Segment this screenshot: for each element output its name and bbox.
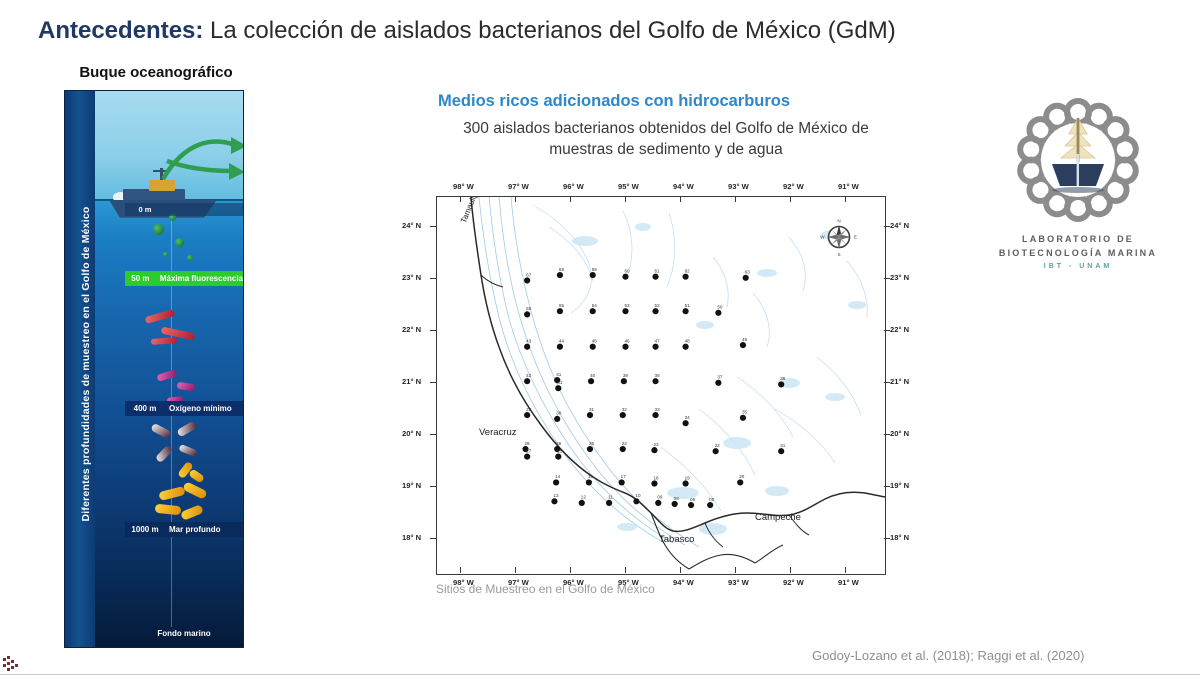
sampling-site-dot bbox=[555, 385, 561, 391]
axis-tick bbox=[680, 196, 681, 202]
sampling-site-label: 38 bbox=[655, 373, 661, 378]
sampling-site-dot bbox=[651, 480, 657, 486]
axis-tick bbox=[430, 434, 436, 435]
bacteria-rod bbox=[155, 504, 182, 516]
sampling-site-label: 30 bbox=[556, 411, 562, 416]
lat-tick-label-left: 24° N bbox=[402, 221, 421, 230]
lon-tick-label-top: 97° W bbox=[508, 182, 529, 191]
lat-tick-label-right: 24° N bbox=[890, 221, 909, 230]
sampling-site-label: 25 bbox=[589, 441, 595, 446]
sampling-site-label: 22 bbox=[715, 443, 721, 448]
depth-band-value: 400 m bbox=[125, 404, 165, 413]
sampling-site-dot bbox=[555, 453, 561, 459]
citation-text: Godoy-Lozano et al. (2018); Raggi et al.… bbox=[812, 648, 1172, 663]
sampling-site-label: 28 bbox=[525, 441, 531, 446]
sampling-site-dot bbox=[655, 500, 661, 506]
svg-text:S: S bbox=[837, 252, 840, 257]
sampling-site-dot bbox=[652, 344, 658, 350]
sampling-site-dot bbox=[586, 479, 592, 485]
lon-tick-label-top: 92° W bbox=[783, 182, 804, 191]
axis-tick bbox=[430, 278, 436, 279]
sampling-site-label: 54 bbox=[592, 303, 598, 308]
sampling-site-label: 14 bbox=[555, 474, 561, 479]
sampling-site-dot bbox=[651, 447, 657, 453]
sampling-site-label: 34 bbox=[685, 415, 691, 420]
seafloor-label: Fondo marino bbox=[125, 627, 243, 641]
page-title: Antecedentes: La colección de aislados b… bbox=[38, 14, 1158, 48]
sampling-site-dot bbox=[620, 412, 626, 418]
sampling-site-label: 13 bbox=[553, 493, 559, 498]
sampling-site-dot bbox=[672, 501, 678, 507]
depth-band-label: Oxígeno mínimo bbox=[165, 404, 232, 413]
sampling-site-label: 41 bbox=[556, 372, 562, 377]
svg-text:E: E bbox=[854, 235, 857, 240]
algae-cell bbox=[187, 255, 193, 261]
depth-band-surface: 0 m bbox=[125, 203, 243, 216]
sampling-site-label: 32 bbox=[622, 407, 628, 412]
sampling-site-dot bbox=[606, 500, 612, 506]
lat-tick-label-right: 21° N bbox=[890, 377, 909, 386]
axis-tick bbox=[884, 226, 890, 227]
sampling-site-dot bbox=[715, 380, 721, 386]
sampling-site-dot bbox=[524, 412, 530, 418]
page-title-rest: La colección de aislados bacterianos del… bbox=[203, 17, 895, 44]
sampling-site-dot bbox=[590, 344, 596, 350]
depth-band-oxygen-minimum: 400 m Oxígeno mínimo bbox=[125, 401, 243, 416]
sampling-site-label: 27 bbox=[526, 448, 532, 453]
sampling-site-label: 10 bbox=[635, 493, 641, 498]
sampling-site-dot bbox=[688, 502, 694, 508]
sampling-site-label: 37 bbox=[717, 375, 723, 380]
axis-tick bbox=[680, 567, 681, 573]
bottom-bar bbox=[0, 675, 1200, 683]
water-column-sidebar: Diferentes profundidades de muestreo en … bbox=[65, 91, 95, 647]
depth-band-deep-sea: 1000 m Mar profundo bbox=[125, 522, 243, 537]
axis-tick bbox=[460, 567, 461, 573]
sampling-site-label: 23 bbox=[653, 442, 659, 447]
sampling-site-label: 39 bbox=[623, 373, 629, 378]
bacteria-rod bbox=[150, 423, 171, 439]
axis-tick bbox=[884, 434, 890, 435]
sampling-site-label: 47 bbox=[655, 339, 661, 344]
bacteria-rod bbox=[158, 486, 185, 501]
sampling-site-dot bbox=[590, 272, 596, 278]
sampling-site-label: 24 bbox=[622, 441, 628, 446]
logo-line-2: BIOTECNOLOGÍA MARINA bbox=[988, 248, 1168, 258]
sampling-site-dot bbox=[620, 446, 626, 452]
sampling-site-label: 48 bbox=[685, 339, 691, 344]
bacteria-rod bbox=[182, 481, 208, 500]
lon-tick-label-top: 93° W bbox=[728, 182, 749, 191]
place-label-campeche: Campeche bbox=[755, 512, 801, 523]
sampling-site-dot bbox=[588, 378, 594, 384]
sampling-site-label: 49 bbox=[742, 337, 748, 342]
sampling-site-label: 20 bbox=[739, 474, 745, 479]
sampling-site-dot bbox=[682, 344, 688, 350]
sampling-site-dot bbox=[622, 274, 628, 280]
axis-tick bbox=[884, 486, 890, 487]
sampling-site-label: 51 bbox=[685, 303, 691, 308]
sampling-site-dot bbox=[590, 308, 596, 314]
sampling-site-label: 18 bbox=[653, 475, 659, 480]
logo-line-1: LABORATORIO DE bbox=[988, 234, 1168, 244]
sampling-site-label: 35 bbox=[742, 410, 748, 415]
axis-tick bbox=[735, 196, 736, 202]
sampling-site-dot bbox=[737, 479, 743, 485]
water-column-heading: Buque oceanográfico bbox=[56, 64, 256, 86]
sampling-site-dot bbox=[524, 344, 530, 350]
sampling-site-dot bbox=[587, 446, 593, 452]
axis-tick bbox=[430, 382, 436, 383]
water-body: 0 m 50 m Máxima fluorescencia 400 m Oxíg… bbox=[95, 91, 243, 647]
lon-tick-label-top: 98° W bbox=[453, 182, 474, 191]
algae-cell bbox=[163, 252, 168, 257]
sampling-site-label: 65 bbox=[559, 303, 565, 308]
depth-band-fluorescence: 50 m Máxima fluorescencia bbox=[125, 271, 243, 286]
sampling-site-dot bbox=[554, 416, 560, 422]
depth-band-label: Mar profundo bbox=[165, 525, 221, 534]
sampling-site-dot bbox=[682, 308, 688, 314]
bacteria-rod bbox=[178, 444, 197, 457]
sampling-site-dot bbox=[524, 311, 530, 317]
axis-tick bbox=[845, 196, 846, 202]
axis-tick bbox=[430, 486, 436, 487]
sampling-site-label: 61 bbox=[655, 269, 661, 274]
sampling-site-dot bbox=[652, 378, 658, 384]
sampling-site-label: 43 bbox=[526, 339, 532, 344]
axis-tick bbox=[430, 330, 436, 331]
sampling-site-label: 09 bbox=[657, 495, 663, 500]
sampling-site-label: 33 bbox=[655, 407, 661, 412]
lat-tick-label-left: 23° N bbox=[402, 273, 421, 282]
map-plot-area[interactable]: 6758596061626366655453525150434445464748… bbox=[436, 196, 886, 575]
sampling-site-label: 36 bbox=[780, 376, 786, 381]
sampling-site-label: 67 bbox=[526, 272, 532, 277]
lon-tick-label-top: 96° W bbox=[563, 182, 584, 191]
sampling-site-label: 06 bbox=[690, 497, 696, 502]
bacteria-rod bbox=[156, 369, 177, 382]
lat-tick-label-left: 19° N bbox=[402, 481, 421, 490]
axis-tick bbox=[625, 196, 626, 202]
sampling-site-label: 42 bbox=[526, 373, 532, 378]
sampling-site-dot bbox=[682, 274, 688, 280]
bacteria-rod bbox=[188, 468, 205, 483]
sampling-site-dot bbox=[622, 308, 628, 314]
bacteria-rod bbox=[177, 382, 196, 391]
axis-tick bbox=[570, 567, 571, 573]
sampling-site-label: 05 bbox=[709, 497, 715, 502]
axis-tick bbox=[515, 196, 516, 202]
sampling-site-dot bbox=[524, 277, 530, 283]
sampling-site-dot bbox=[557, 272, 563, 278]
map-block: Medios ricos adicionados con hidrocarbur… bbox=[400, 86, 930, 646]
sampling-site-label: 40 bbox=[590, 373, 596, 378]
map-kicker-heading: Medios ricos adicionados con hidrocarbur… bbox=[438, 92, 898, 111]
lat-tick-label-right: 22° N bbox=[890, 325, 909, 334]
sampling-site-label: 31 bbox=[589, 407, 595, 412]
lon-tick-label-top: 94° W bbox=[673, 182, 694, 191]
lat-tick-label-right: 23° N bbox=[890, 273, 909, 282]
sampling-site-dot bbox=[682, 480, 688, 486]
sampling-site-label: 12 bbox=[581, 495, 587, 500]
sampling-site-dot bbox=[553, 479, 559, 485]
sampling-site-label: 41 bbox=[557, 380, 563, 385]
sampling-site-dot bbox=[743, 275, 749, 281]
depth-band-label: Máxima fluorescencia bbox=[156, 274, 243, 283]
sampling-site-dot bbox=[652, 308, 658, 314]
green-arrow-icon bbox=[153, 135, 244, 205]
lat-tick-label-right: 19° N bbox=[890, 481, 909, 490]
map-subtitle: 300 aislados bacterianos obtenidos del G… bbox=[438, 118, 894, 160]
lat-tick-label-left: 20° N bbox=[402, 429, 421, 438]
axis-tick bbox=[625, 567, 626, 573]
sampling-site-dot bbox=[622, 344, 628, 350]
sampling-site-label: 52 bbox=[655, 303, 661, 308]
sampling-site-markers: 6758596061626366655453525150434445464748… bbox=[437, 197, 885, 574]
water-column-panel: Buque oceanográfico Diferentes profundid… bbox=[46, 64, 258, 648]
axis-tick bbox=[790, 567, 791, 573]
axis-tick bbox=[884, 382, 890, 383]
axis-tick bbox=[884, 538, 890, 539]
sampling-site-dot bbox=[652, 412, 658, 418]
lon-tick-label-top: 95° W bbox=[618, 182, 639, 191]
sampling-site-label: 63 bbox=[745, 270, 751, 275]
sampling-site-dot bbox=[633, 498, 639, 504]
sampling-site-dot bbox=[524, 378, 530, 384]
lon-tick-label-top: 91° W bbox=[838, 182, 859, 191]
sampling-site-dot bbox=[778, 448, 784, 454]
sampling-site-dot bbox=[652, 274, 658, 280]
sampling-site-label: 26 bbox=[556, 441, 562, 446]
sampling-site-dot bbox=[579, 500, 585, 506]
sampling-site-dot bbox=[587, 412, 593, 418]
axis-tick bbox=[790, 196, 791, 202]
sampling-site-label: 15 bbox=[588, 474, 594, 479]
sampling-site-dot bbox=[682, 420, 688, 426]
lab-logo: LABORATORIO DE BIOTECNOLOGÍA MARINA IBT … bbox=[988, 94, 1168, 304]
lat-tick-label-left: 22° N bbox=[402, 325, 421, 334]
sampling-site-dot bbox=[740, 415, 746, 421]
algae-cell bbox=[153, 224, 164, 235]
lat-tick-label-left: 18° N bbox=[402, 533, 421, 542]
axis-tick bbox=[570, 196, 571, 202]
sampling-site-label: 58 bbox=[559, 267, 565, 272]
sampling-site-label: 21 bbox=[780, 443, 786, 448]
sampling-site-label: 17 bbox=[621, 474, 627, 479]
axis-tick bbox=[845, 567, 846, 573]
sampling-site-dot bbox=[524, 453, 530, 459]
sampling-site-dot bbox=[707, 502, 713, 508]
svg-text:W: W bbox=[820, 235, 825, 240]
sampling-site-label: 45 bbox=[592, 339, 598, 344]
depth-band-value: 1000 m bbox=[125, 525, 165, 534]
sampling-site-dot bbox=[557, 344, 563, 350]
sampling-site-label: 62 bbox=[685, 269, 691, 274]
axis-tick bbox=[515, 567, 516, 573]
sampling-site-dot bbox=[715, 310, 721, 316]
depth-band-value: 0 m bbox=[125, 205, 165, 214]
axis-tick bbox=[460, 196, 461, 202]
map-caption: Sitios de Muestreo en el Golfo de México bbox=[436, 582, 884, 596]
sampling-site-label: 60 bbox=[624, 269, 630, 274]
sampling-site-label: 29 bbox=[526, 407, 532, 412]
page-title-lead: Antecedentes: bbox=[38, 17, 203, 44]
lat-tick-label-left: 21° N bbox=[402, 377, 421, 386]
water-column-figure: Diferentes profundidades de muestreo en … bbox=[64, 90, 244, 648]
sampling-site-label: 53 bbox=[624, 303, 630, 308]
sampling-site-label: 19 bbox=[685, 475, 691, 480]
corner-decoration-icon bbox=[2, 655, 24, 677]
place-label-veracruz: Veracruz bbox=[479, 427, 517, 438]
sampling-site-dot bbox=[557, 308, 563, 314]
sampling-site-dot bbox=[619, 479, 625, 485]
sampling-site-label: 50 bbox=[717, 305, 723, 310]
depth-band-value: 50 m bbox=[125, 274, 156, 283]
logo-line-3: IBT - UNAM bbox=[988, 263, 1168, 270]
axis-tick bbox=[735, 567, 736, 573]
sampling-site-dot bbox=[740, 342, 746, 348]
axis-tick bbox=[430, 538, 436, 539]
sampling-site-dot bbox=[621, 378, 627, 384]
axis-tick bbox=[884, 278, 890, 279]
sampling-site-label: 46 bbox=[624, 339, 630, 344]
bacteria-rod bbox=[180, 504, 204, 521]
sampling-site-dot bbox=[551, 498, 557, 504]
algae-cell bbox=[175, 238, 184, 247]
laboratory-seal-icon bbox=[1012, 94, 1144, 226]
sampling-site-dot bbox=[713, 448, 719, 454]
lat-tick-label-right: 18° N bbox=[890, 533, 909, 542]
sampling-site-label: 66 bbox=[526, 306, 532, 311]
bacteria-rod bbox=[176, 420, 197, 437]
sampling-site-label: 44 bbox=[559, 339, 565, 344]
sampling-site-dot bbox=[778, 381, 784, 387]
sampling-site-label: 08 bbox=[674, 496, 680, 501]
axis-tick bbox=[430, 226, 436, 227]
compass-rose-icon: N S E W bbox=[819, 217, 859, 257]
svg-text:N: N bbox=[837, 219, 840, 224]
lat-tick-label-right: 20° N bbox=[890, 429, 909, 438]
axis-tick bbox=[884, 330, 890, 331]
sampling-site-label: 59 bbox=[592, 267, 598, 272]
place-label-tabasco: Tabasco bbox=[659, 534, 694, 545]
bacteria-filament bbox=[151, 338, 177, 346]
sampling-site-label: 25 bbox=[557, 448, 563, 453]
sampling-site-label: 11 bbox=[608, 495, 613, 500]
